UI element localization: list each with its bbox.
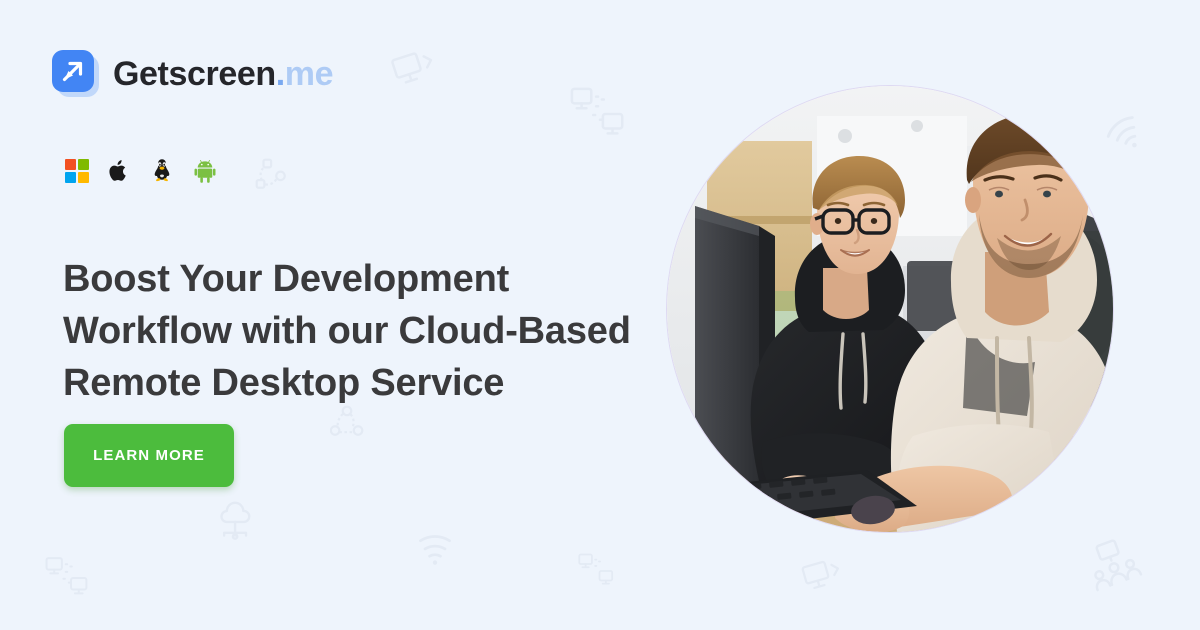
logo-name: Getscreen (113, 55, 276, 93)
windows-icon (65, 159, 89, 183)
apple-icon (106, 158, 132, 184)
logo-wordmark: Getscreen.me (113, 57, 333, 91)
page-title: Boost Your Development Workflow with our… (63, 253, 663, 409)
cloud-network-icon (215, 500, 257, 542)
brand-logo[interactable]: Getscreen.me (52, 50, 333, 97)
monitor-code-icon (387, 41, 445, 99)
logo-tile (52, 50, 94, 92)
headline-line-2: Workflow with our Cloud-Based (63, 305, 663, 357)
logo-dot: . (276, 55, 285, 93)
monitor-code-icon (798, 551, 850, 603)
banner-canvas: Getscreen.me (0, 0, 1200, 630)
android-icon (192, 158, 218, 184)
monitors-linked-icon (578, 552, 616, 590)
monitors-linked-icon (45, 555, 91, 601)
share-nodes-icon (255, 158, 289, 192)
headline-line-1: Boost Your Development (63, 253, 663, 305)
platform-icons (65, 158, 218, 184)
team-monitor-icon (1081, 533, 1145, 597)
logo-suffix: me (285, 55, 333, 93)
hero-photo-image (667, 86, 1113, 532)
headline-line-3: Remote Desktop Service (63, 357, 663, 409)
linux-tux-icon (149, 158, 175, 184)
wifi-icon (415, 528, 455, 568)
learn-more-button[interactable]: LEARN MORE (64, 424, 234, 487)
arrow-up-right-icon (59, 57, 87, 85)
share-nodes-icon (330, 405, 364, 439)
monitors-linked-icon (570, 85, 628, 143)
hero-photo (666, 85, 1114, 533)
logo-mark (52, 50, 99, 97)
